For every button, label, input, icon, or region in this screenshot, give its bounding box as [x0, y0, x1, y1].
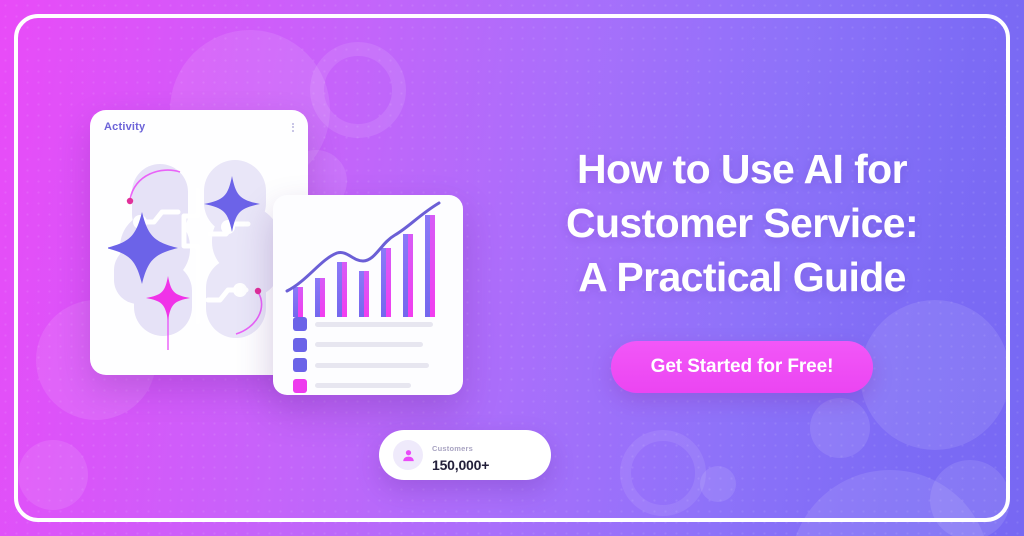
legend-swatch [293, 317, 307, 331]
get-started-button[interactable]: Get Started for Free! [611, 341, 874, 393]
illustration-group: Activity [78, 100, 498, 410]
headline-line-1: How to Use AI for [566, 143, 918, 197]
legend-placeholder-bar [315, 383, 411, 388]
customers-badge-text: Customers 150,000+ [432, 438, 489, 473]
legend-swatch [293, 358, 307, 372]
page-title: How to Use AI for Customer Service: A Pr… [566, 143, 918, 304]
person-icon [393, 440, 423, 470]
activity-card-header: Activity [90, 110, 308, 144]
promo-banner: Activity [0, 0, 1024, 536]
customers-badge[interactable]: Customers 150,000+ [379, 430, 551, 480]
headline-line-3: A Practical Guide [566, 251, 918, 305]
legend-swatch [293, 379, 307, 393]
legend-placeholder-bar [315, 322, 433, 327]
bar-chart [273, 195, 463, 321]
headline-line-2: Customer Service: [566, 197, 918, 251]
activity-card-title: Activity [104, 121, 145, 133]
more-vertical-icon[interactable] [292, 123, 294, 132]
list-item[interactable] [293, 338, 443, 352]
chart-card[interactable] [273, 195, 463, 395]
legend-placeholder-bar [315, 363, 429, 368]
ai-brain-icon [108, 150, 292, 350]
legend-placeholder-bar [315, 342, 423, 347]
bubble-decoration [18, 440, 88, 510]
chart-legend [293, 317, 443, 393]
customers-label: Customers [432, 444, 473, 453]
list-item[interactable] [293, 358, 443, 372]
list-item[interactable] [293, 379, 443, 393]
legend-swatch [293, 338, 307, 352]
content-column: How to Use AI for Customer Service: A Pr… [540, 0, 944, 536]
customers-value: 150,000+ [432, 457, 489, 473]
list-item[interactable] [293, 317, 443, 331]
